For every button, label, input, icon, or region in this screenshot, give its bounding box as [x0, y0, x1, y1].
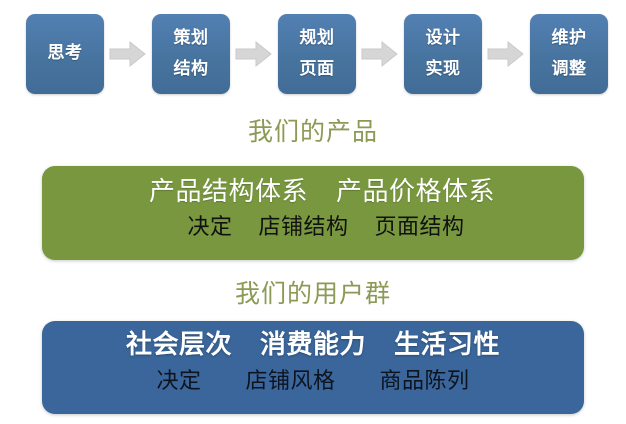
flow-step-4-line-1: 设计 [426, 30, 461, 48]
arrow-right-icon [361, 40, 399, 68]
flow-step-3-line-2: 页面 [300, 61, 335, 79]
flow-step-5-line-2: 调整 [552, 61, 587, 79]
users-primary-item-3: 生活习性 [394, 331, 500, 360]
flow-step-4-line-2: 实现 [426, 61, 461, 79]
products-primary-item-2: 产品价格体系 [336, 178, 495, 207]
flow-step-3-line-1: 规划 [300, 30, 335, 48]
arrow-right-icon [235, 40, 273, 68]
products-panel: 产品结构体系 产品价格体系 决定 店铺结构 页面结构 [42, 166, 584, 260]
products-secondary-item-2: 店铺结构 [258, 216, 348, 240]
flow-step-3[interactable]: 规划 页面 [278, 14, 356, 94]
products-primary-row: 产品结构体系 产品价格体系 [42, 166, 584, 207]
users-secondary-item-3: 商品陈列 [380, 370, 470, 394]
flow-step-2-line-1: 策划 [174, 30, 209, 48]
users-panel: 社会层次 消费能力 生活习性 决定 店铺风格 商品陈列 [42, 321, 584, 414]
flow-step-5[interactable]: 维护 调整 [530, 14, 608, 94]
arrow-right-icon [487, 40, 525, 68]
arrow-right-icon [109, 40, 147, 68]
users-secondary-item-2: 店铺风格 [245, 370, 335, 394]
flow-step-2[interactable]: 策划 结构 [152, 14, 230, 94]
flow-step-5-line-1: 维护 [552, 30, 587, 48]
products-primary-item-1: 产品结构体系 [149, 178, 308, 207]
flow-step-2-line-2: 结构 [174, 61, 209, 79]
products-secondary-item-3: 页面结构 [375, 216, 465, 240]
products-secondary-row: 决定 店铺结构 页面结构 [42, 207, 584, 240]
flow-step-1[interactable]: 思考 [26, 14, 104, 94]
process-flow-row: 思考 策划 结构 规划 页面 设计 实现 维护 调整 [0, 0, 626, 108]
section-heading-users: 我们的用户群 [0, 281, 626, 306]
users-primary-item-2: 消费能力 [260, 331, 366, 360]
products-secondary-item-1: 决定 [187, 216, 232, 240]
users-secondary-row: 决定 店铺风格 商品陈列 [42, 360, 584, 394]
flow-step-1-line-1: 思考 [48, 45, 83, 63]
flow-step-4[interactable]: 设计 实现 [404, 14, 482, 94]
section-heading-products: 我们的产品 [0, 119, 626, 144]
users-primary-row: 社会层次 消费能力 生活习性 [42, 321, 584, 360]
users-secondary-item-1: 决定 [156, 370, 201, 394]
users-primary-item-1: 社会层次 [126, 331, 232, 360]
